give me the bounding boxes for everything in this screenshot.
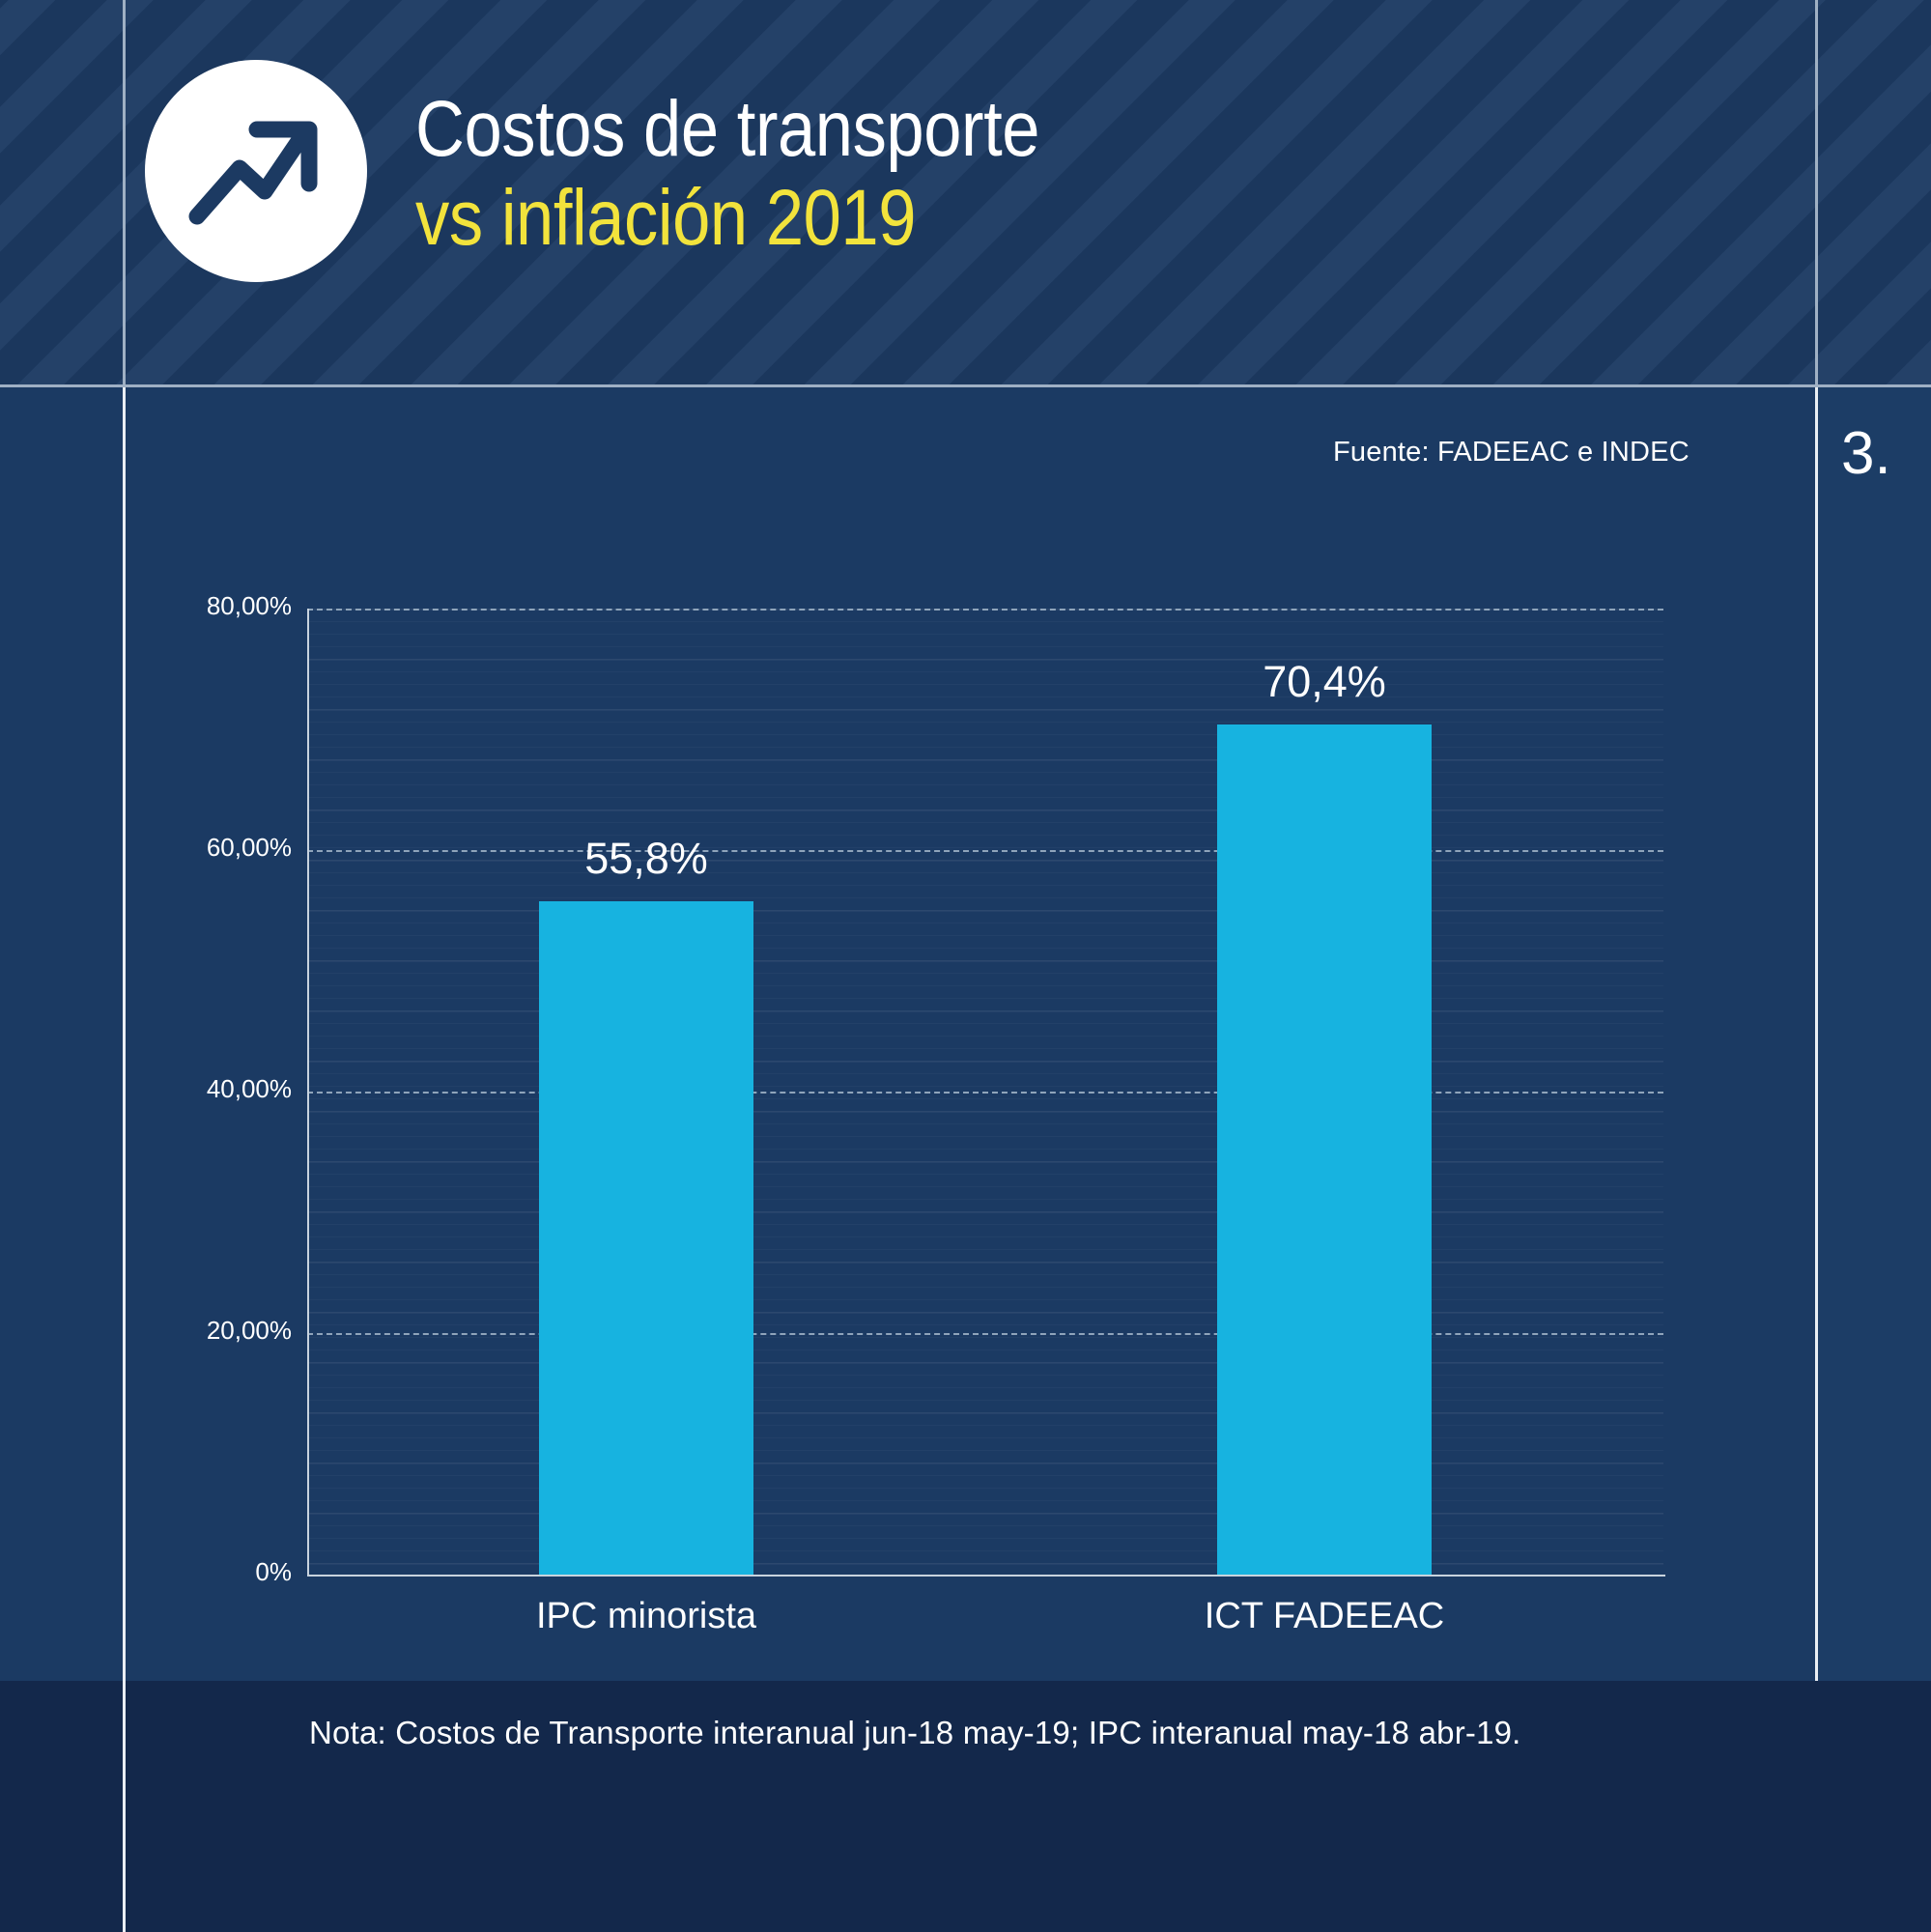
page-number: 3.: [1841, 419, 1891, 488]
x-axis-category-label: IPC minorista: [405, 1596, 888, 1637]
logo-badge: [145, 60, 367, 282]
gridline: [307, 1333, 1663, 1335]
y-axis-tick-label: 40,00%: [137, 1074, 292, 1104]
x-axis-category-label: ICT FADEEAC: [1083, 1596, 1566, 1637]
bar-1[interactable]: [539, 901, 753, 1576]
plot-area: [307, 609, 1663, 1575]
header-right-rule: [1815, 0, 1818, 386]
y-axis-tick-label: 80,00%: [137, 591, 292, 621]
bar-2[interactable]: [1217, 724, 1432, 1575]
source-label: Fuente: FADEEAC e INDEC: [1333, 437, 1719, 469]
bar-chart: 0%20,00%40,00%60,00%80,00%55,8%IPC minor…: [164, 580, 1710, 1604]
page-number-panel: [1818, 387, 1931, 1681]
y-axis-line: [307, 609, 309, 1577]
header-banner: Costos de transporte vs inflación 2019: [0, 0, 1931, 386]
y-axis-tick-label: 0%: [137, 1557, 292, 1587]
bar-value-label: 70,4%: [1150, 657, 1498, 707]
footer-left-rule: [123, 1681, 126, 1932]
x-axis-line: [307, 1575, 1665, 1577]
body-left-rule: [123, 387, 126, 1681]
title-line-primary: Costos de transporte: [415, 85, 1495, 174]
footer-note-text: Nota: Costos de Transporte interanual ju…: [309, 1715, 1521, 1751]
y-axis-tick-label: 20,00%: [137, 1316, 292, 1346]
gridline: [307, 1092, 1663, 1094]
header-left-rule: [123, 0, 126, 386]
title-line-secondary: vs inflación 2019: [415, 174, 1495, 263]
trend-up-arrow-icon: [184, 108, 328, 234]
slide-root: Costos de transporte vs inflación 2019 F…: [0, 0, 1931, 1932]
body-right-rule: [1815, 387, 1818, 1681]
y-axis-tick-label: 60,00%: [137, 833, 292, 863]
header-title-block: Costos de transporte vs inflación 2019: [415, 85, 1671, 263]
bar-value-label: 55,8%: [472, 834, 820, 884]
gridline: [307, 609, 1663, 611]
